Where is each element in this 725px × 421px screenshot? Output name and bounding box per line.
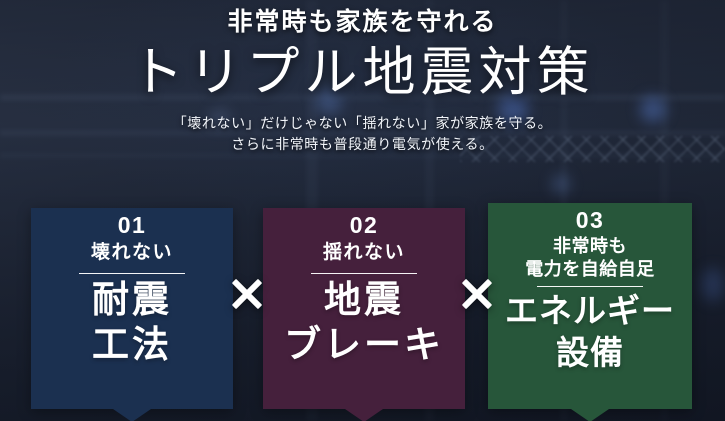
card-pointer-arrow [571, 409, 609, 421]
card-subtitle-01: 壊れない [31, 240, 233, 265]
multiply-icon [459, 276, 495, 312]
feature-card-01[interactable]: 01 壊れない 耐震 工法 [31, 208, 233, 409]
card-divider [311, 273, 417, 274]
card-title-03: エネルギー 設備 [488, 291, 692, 375]
card-number-02: 02 [263, 211, 465, 239]
feature-card-02[interactable]: 02 揺れない 地震 ブレーキ [263, 208, 465, 409]
multiply-icon [229, 276, 265, 312]
card-title-line-1: 地震 [324, 280, 404, 321]
promo-banner: 非常時も家族を守れる トリプル地震対策 「壊れない」だけじゃない「揺れない」家が… [0, 0, 725, 421]
lede-line-1: 「壊れない」だけじゃない「揺れない」家が家族を守る。 [0, 113, 725, 134]
feature-card-03[interactable]: 03 非常時も 電力を自給自足 エネルギー 設備 [488, 203, 692, 409]
lede-paragraph: 「壊れない」だけじゃない「揺れない」家が家族を守る。 さらに非常時も普段通り電気… [0, 113, 725, 155]
header-block: 非常時も家族を守れる トリプル地震対策 「壊れない」だけじゃない「揺れない」家が… [0, 0, 725, 155]
card-divider [79, 273, 185, 274]
card-subtitle-03: 非常時も 電力を自給自足 [488, 235, 692, 281]
card-number-01: 01 [31, 211, 233, 239]
card-subtitle-02: 揺れない [263, 240, 465, 265]
card-divider [537, 286, 643, 287]
card-subtitle-line-1: 非常時も [488, 235, 692, 258]
card-pointer-arrow [113, 409, 151, 421]
card-subtitle-line-2: 電力を自給自足 [488, 258, 692, 281]
card-title-line-2: 設備 [488, 333, 692, 375]
card-title-line-1: 耐震 [92, 280, 172, 321]
lede-line-2: さらに非常時も普段通り電気が使える。 [0, 134, 725, 155]
card-title-line-2: ブレーキ [263, 323, 465, 368]
card-title-02: 地震 ブレーキ [263, 278, 465, 368]
card-title-01: 耐震 工法 [31, 278, 233, 368]
card-title-line-2: 工法 [31, 323, 233, 368]
card-title-line-1: エネルギー [505, 294, 675, 330]
card-pointer-arrow [345, 409, 383, 421]
feature-card-row: 01 壊れない 耐震 工法 02 揺れない 地震 ブレーキ [0, 203, 725, 421]
page-title: トリプル地震対策 [0, 42, 725, 104]
eyebrow-text: 非常時も家族を守れる [0, 6, 725, 40]
card-number-03: 03 [488, 206, 692, 234]
